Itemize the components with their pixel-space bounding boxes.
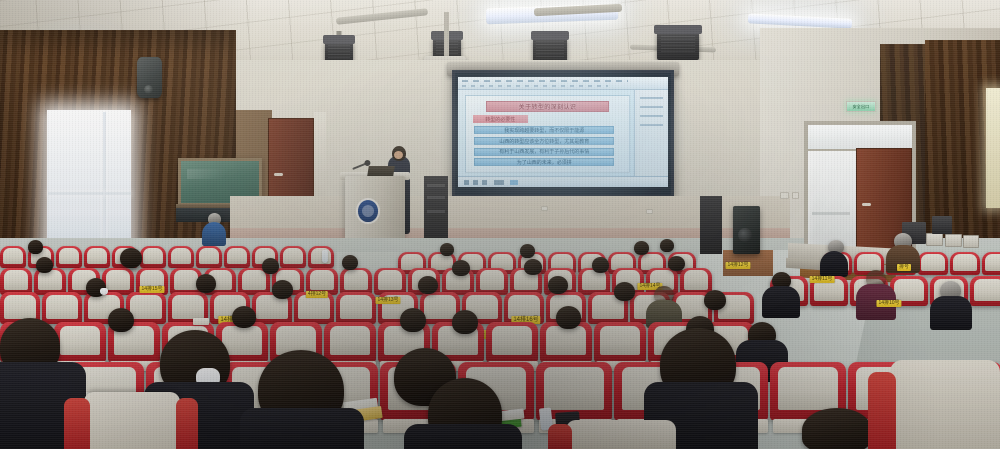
seat-number-label: 14排13号 bbox=[375, 297, 400, 304]
seat-back bbox=[778, 367, 837, 410]
seat-back bbox=[546, 326, 587, 356]
side-panel-line bbox=[640, 106, 663, 108]
speaker-grille bbox=[536, 41, 563, 57]
audience-head bbox=[704, 290, 726, 310]
seat-back bbox=[508, 295, 539, 319]
status-icon bbox=[473, 180, 478, 185]
seat-number-label: 14排11号 bbox=[810, 276, 835, 283]
floor-standing-speaker bbox=[733, 206, 760, 254]
seat-back bbox=[46, 295, 77, 319]
seat-back bbox=[174, 270, 199, 290]
side-panel-line bbox=[640, 124, 663, 126]
audience-head bbox=[668, 256, 685, 271]
toolbar-row-1 bbox=[462, 80, 628, 82]
slide-bullet-2: 山西的转型应该全方位转型，尤其是教育 bbox=[474, 137, 614, 145]
seat-back bbox=[199, 248, 219, 264]
ceiling-speaker bbox=[533, 38, 567, 62]
audience-head bbox=[120, 248, 142, 268]
audience-head bbox=[548, 276, 568, 294]
rack-slot bbox=[427, 184, 445, 187]
seat-back bbox=[143, 248, 163, 264]
speaker-grille bbox=[661, 36, 695, 54]
seat-back bbox=[311, 248, 331, 264]
audience-torso bbox=[930, 296, 972, 330]
seat-back bbox=[953, 254, 976, 271]
seat[interactable] bbox=[0, 246, 26, 268]
podium-laptop bbox=[367, 166, 395, 176]
status-icon bbox=[510, 180, 518, 185]
seat-back bbox=[3, 248, 23, 264]
av-equipment-rack bbox=[424, 176, 448, 238]
audience-head bbox=[108, 308, 134, 332]
av-monitor bbox=[932, 216, 952, 234]
audience-head bbox=[660, 239, 674, 252]
seat-back bbox=[985, 254, 1000, 271]
foreground-seat-arm[interactable] bbox=[868, 372, 896, 449]
presentation-toolbar bbox=[458, 77, 668, 90]
seat-back bbox=[4, 270, 29, 290]
audience-head bbox=[556, 306, 581, 329]
seat-back bbox=[298, 295, 329, 319]
side-panel-line bbox=[640, 115, 663, 117]
audience-head bbox=[232, 306, 256, 328]
slide-canvas: 关于转型的深刻认识 转型的必要性 我实现跨越要转型，而不仅限于能源 山西的转型应… bbox=[465, 95, 630, 173]
seat[interactable] bbox=[324, 322, 376, 362]
audience-head bbox=[520, 244, 535, 258]
seat[interactable] bbox=[336, 292, 376, 324]
seat-back bbox=[172, 295, 203, 319]
seat-back bbox=[4, 295, 35, 319]
seat[interactable] bbox=[196, 246, 222, 268]
status-icon bbox=[494, 180, 504, 185]
water-bottle bbox=[322, 250, 328, 263]
audience-torso bbox=[202, 222, 226, 246]
seat-back bbox=[310, 270, 335, 290]
seat-back bbox=[974, 279, 1000, 301]
slide-subtitle: 转型的必要性 bbox=[473, 115, 528, 123]
audience-torso bbox=[820, 251, 848, 277]
seat[interactable] bbox=[168, 246, 194, 268]
wall-mounted-speaker bbox=[137, 57, 162, 98]
audience-head bbox=[262, 258, 279, 274]
audience-head bbox=[802, 408, 872, 449]
seat-back bbox=[59, 248, 79, 264]
wall-outlet bbox=[646, 209, 653, 214]
university-crest-icon bbox=[358, 200, 378, 222]
seat-back bbox=[600, 326, 641, 356]
av-device bbox=[926, 233, 943, 246]
seat-number-label: 14排10号 bbox=[876, 300, 901, 307]
presenter-face bbox=[394, 151, 403, 159]
face-mask bbox=[100, 288, 108, 295]
audience-head bbox=[440, 243, 454, 256]
seat[interactable] bbox=[374, 268, 406, 295]
seat-number-label: 4排12号 bbox=[306, 291, 328, 298]
audience-head bbox=[592, 257, 609, 273]
seat[interactable] bbox=[224, 246, 250, 268]
seat-back bbox=[684, 270, 709, 290]
seat[interactable] bbox=[0, 268, 32, 295]
exit-sign: 安全出口 bbox=[846, 101, 876, 112]
notebook bbox=[193, 318, 209, 325]
foreground-seat-back[interactable] bbox=[890, 360, 1000, 449]
seat[interactable] bbox=[486, 322, 538, 362]
seat[interactable] bbox=[54, 322, 106, 362]
audience-torso bbox=[240, 408, 364, 449]
ceiling-speaker bbox=[657, 32, 699, 60]
slide-title: 关于转型的深刻认识 bbox=[486, 101, 610, 112]
chalk-smudge bbox=[187, 169, 242, 180]
seat[interactable] bbox=[42, 292, 82, 324]
foreground-seat-arm[interactable] bbox=[176, 398, 198, 449]
seat[interactable] bbox=[56, 246, 82, 268]
toolbar-row-2 bbox=[462, 85, 608, 87]
seat[interactable] bbox=[982, 252, 1000, 275]
projector-mount-pole bbox=[444, 12, 449, 58]
seat-back bbox=[424, 295, 455, 319]
right-window-strip bbox=[986, 88, 1000, 208]
seat-back bbox=[340, 295, 371, 319]
projected-slide: 关于转型的深刻认识 转型的必要性 我实现跨越要转型，而不仅限于能源 山西的转型应… bbox=[458, 77, 668, 187]
status-icon bbox=[482, 180, 487, 185]
slide-side-panel bbox=[634, 90, 668, 177]
seat-back bbox=[344, 270, 369, 290]
audience-head bbox=[342, 255, 358, 270]
seat-back bbox=[87, 248, 107, 264]
audience-head bbox=[524, 259, 542, 275]
lecture-hall-photo: 关于转型的深刻认识 转型的必要性 我实现跨越要转型，而不仅限于能源 山西的转型应… bbox=[0, 0, 1000, 449]
seat-back bbox=[378, 270, 403, 290]
foreground-seat-arm[interactable] bbox=[64, 398, 90, 449]
seat[interactable] bbox=[280, 246, 306, 268]
slide-bullet-1: 我实现跨越要转型，而不仅限于能源 bbox=[474, 126, 614, 134]
audience-head bbox=[452, 310, 478, 334]
seat-back bbox=[582, 270, 607, 290]
av-device bbox=[963, 235, 979, 248]
seat-back bbox=[283, 248, 303, 264]
seat-back bbox=[38, 270, 63, 290]
audience-head bbox=[634, 241, 649, 255]
rack-slot bbox=[427, 196, 445, 199]
seat-back bbox=[480, 270, 505, 290]
audience-torso bbox=[404, 424, 522, 449]
wall-outlet bbox=[780, 192, 789, 199]
seat[interactable] bbox=[594, 322, 646, 362]
slide-bullet-4: 为了山西的未来，必须拼 bbox=[474, 158, 614, 166]
seat-back bbox=[171, 248, 191, 264]
seat-back bbox=[544, 367, 603, 410]
audience-head bbox=[272, 280, 293, 299]
seat-back bbox=[130, 295, 161, 319]
seat-back bbox=[227, 248, 247, 264]
seat[interactable] bbox=[950, 252, 980, 275]
seat-back bbox=[921, 254, 944, 271]
seat[interactable] bbox=[680, 268, 712, 295]
audience-head bbox=[400, 308, 426, 332]
speaker-grille bbox=[328, 45, 350, 60]
seat-back bbox=[857, 254, 880, 271]
audience-head bbox=[418, 276, 438, 294]
side-panel-line bbox=[640, 97, 663, 99]
projection-screen: 关于转型的深刻认识 转型的必要性 我实现跨越要转型，而不仅限于能源 山西的转型应… bbox=[452, 70, 674, 198]
seat-number-label: 排号 bbox=[897, 264, 911, 271]
seat[interactable] bbox=[308, 246, 334, 268]
seat-back bbox=[60, 326, 101, 356]
wall-panel-dark bbox=[700, 196, 722, 254]
audience-torso bbox=[762, 286, 800, 318]
wall-outlet bbox=[541, 206, 548, 211]
seat[interactable] bbox=[970, 276, 1000, 306]
seat-back bbox=[894, 279, 924, 301]
seat-number-label: 14排15号 bbox=[139, 286, 164, 293]
foreground-seat-back[interactable] bbox=[566, 420, 676, 449]
audience-head bbox=[452, 260, 470, 276]
slide-bullet-3: 有利于山西发展，有利于子孙后代的事情 bbox=[474, 148, 614, 156]
audience-head bbox=[614, 282, 635, 301]
seat[interactable] bbox=[84, 246, 110, 268]
rack-slot bbox=[427, 210, 445, 213]
seat-back bbox=[330, 326, 371, 356]
window-frame-horizontal bbox=[48, 192, 131, 195]
wall-outlet bbox=[792, 192, 799, 199]
seat-back bbox=[106, 270, 131, 290]
speaker-lip bbox=[531, 31, 569, 40]
seat[interactable] bbox=[918, 252, 948, 275]
audience-head bbox=[36, 257, 53, 273]
foreground-seat-back[interactable] bbox=[84, 392, 180, 449]
seat[interactable] bbox=[140, 246, 166, 268]
audience-head bbox=[28, 240, 43, 254]
seat-back bbox=[492, 326, 533, 356]
seat-number-label: 14排12号 bbox=[725, 262, 750, 269]
status-icon bbox=[464, 180, 469, 185]
seat[interactable] bbox=[476, 268, 508, 295]
speaker-lip bbox=[323, 35, 354, 44]
audience-head bbox=[196, 274, 216, 293]
seat-back bbox=[242, 270, 267, 290]
foreground-seat-arm[interactable] bbox=[548, 424, 572, 449]
av-device bbox=[945, 234, 962, 247]
seat[interactable] bbox=[340, 268, 372, 295]
presentation-status-bar bbox=[458, 176, 668, 187]
corridor-handrail bbox=[812, 212, 850, 215]
speaker-lip bbox=[654, 25, 701, 34]
